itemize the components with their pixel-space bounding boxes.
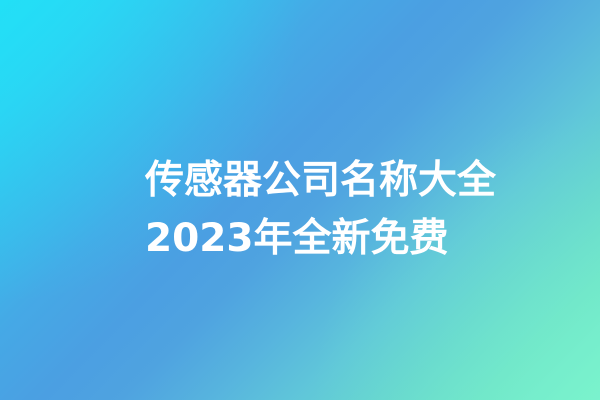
banner-background: 传感器公司名称大全 2023年全新免费 — [0, 0, 600, 400]
banner-title-block: 传感器公司名称大全 2023年全新免费 — [145, 152, 565, 268]
banner-title-line-1: 传感器公司名称大全 — [145, 152, 565, 210]
banner-title-line-2: 2023年全新免费 — [145, 210, 565, 268]
